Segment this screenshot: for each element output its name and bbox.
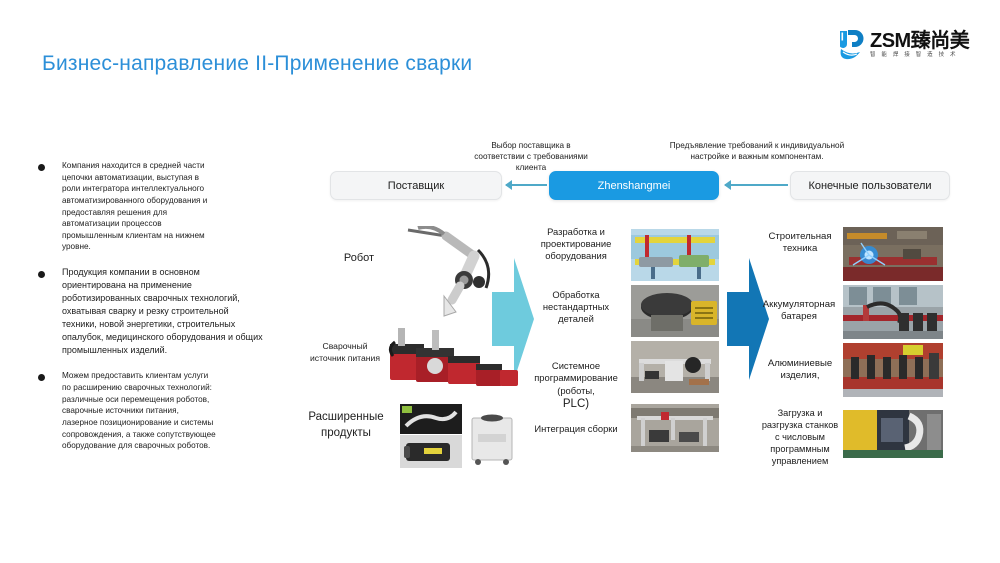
label-extended-products: Расширенные продукты [296,410,396,441]
bullet-dot-icon [38,374,45,381]
flow-box-zhenshangmei[interactable]: Zhenshangmei [549,171,719,200]
welding-torch-photo [400,404,462,434]
slide-canvas: ZSM臻尚美 智 能 焊 接 智 造 技 术 Бизнес-направлени… [0,0,1000,563]
flow-box-end-users[interactable]: Конечные пользователи [790,171,950,200]
list-item: Можем предоставить клиентам услуги по ра… [38,370,283,451]
page-title: Бизнес-направление II-Применение сварки [42,52,472,76]
thumbnail-welding-sparks-line [843,227,943,281]
thumbnail-engineering-cad-cell [631,229,719,281]
label-system-programming: Системное программирование (роботы, PLC) [515,348,637,412]
label-cnc-load-unload: Загрузка и разгрузка станков с числовым … [744,408,856,468]
water-chiller-photo [468,408,516,466]
thumbnail-cnc-load-unload [843,410,943,458]
bullet-text: Компания находится в средней части цепоч… [62,160,283,253]
bullet-text: Продукция компании в основном ориентиров… [62,266,283,357]
thumbnail-aluminium-parts-rack [843,343,943,397]
label-aluminium-products: Алюминиевые изделия, [749,358,851,383]
label-assembly-integration: Интеграция сборки [515,423,637,435]
list-item: Компания находится в средней части цепоч… [38,160,283,253]
label-system-programming-main: Системное программирование (роботы, [534,360,618,395]
left-arrow-icon [506,184,547,186]
label-robot: Робот [318,251,400,265]
label-equipment-design: Разработка и проектирование оборудования [521,226,631,263]
thumbnail-gantry-line [631,404,719,452]
welding-power-source-illustration [388,326,520,391]
label-welding-power-source: Сварочный источник питания [290,341,400,364]
label-system-programming-plc: PLC) [563,398,589,410]
thumbnail-assembly-fixture [631,341,719,393]
zsm-logo-icon [836,27,866,63]
bullet-dot-icon [38,271,45,278]
bullet-list: Компания находится в средней части цепоч… [38,160,283,465]
bullet-dot-icon [38,164,45,171]
label-battery: Аккумуляторная батарея [747,299,851,324]
flow-caption-left: Выбор поставщика в соответствии с требов… [443,140,619,173]
zsm-logo: ZSM臻尚美 智 能 焊 接 智 造 技 术 [836,24,976,66]
logo-tagline: 智 能 焊 接 智 造 技 术 [870,53,969,59]
logo-wordmark: ZSM臻尚美 [870,31,969,51]
thumbnail-rotary-positioner [631,285,719,337]
thumbnail-battery-robot-cell [843,285,943,339]
list-item: Продукция компании в основном ориентиров… [38,266,283,357]
flow-caption-right: Предъявление требований к индивидуальной… [648,140,866,162]
label-construction-machinery: Строительная техника [749,231,851,256]
laser-tracker-photo [400,435,462,468]
bullet-text: Можем предоставить клиентам услуги по ра… [62,370,283,451]
label-custom-parts-processing: Обработка нестандартных деталей [521,289,631,326]
left-arrow-icon [725,184,788,186]
flow-box-supplier[interactable]: Поставщик [330,171,502,200]
robot-arm-illustration [400,226,505,318]
